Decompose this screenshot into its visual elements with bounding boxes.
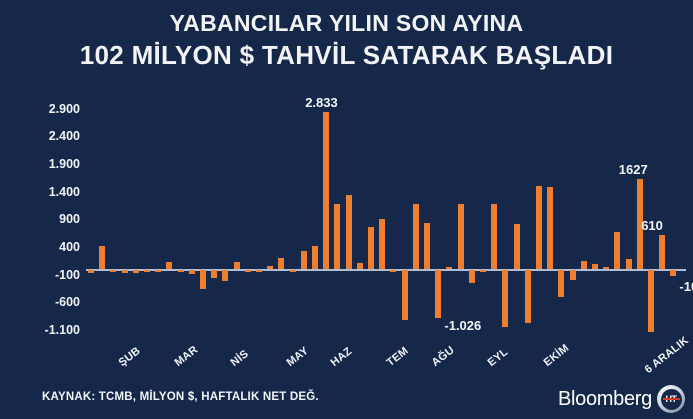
data-label: 2.833 [305,95,338,110]
bar [413,204,419,269]
y-axis-label: 400 [6,241,80,253]
bar [256,270,262,272]
x-axis-label: TEM [385,345,411,369]
bar [491,204,497,269]
logo-inner-disc: HT [661,389,682,410]
y-axis-label: 2.400 [6,130,80,142]
bar [290,270,296,272]
bar [189,270,195,274]
x-axis-label: ŞUB [116,345,142,369]
data-label: 610 [641,218,663,233]
y-axis-label: -1.100 [6,324,80,336]
chart-footer: KAYNAK: TCMB, MİLYON $, HAFTALIK NET DEĞ… [0,379,693,419]
y-axis-label: 2.900 [6,103,80,115]
chart-page: YABANCILAR YILIN SON AYINA 102 MİLYON $ … [0,0,693,419]
bar [458,204,464,269]
bar [402,270,408,320]
bar [110,270,116,272]
bar [133,270,139,273]
chart-title-line-2: 102 MİLYON $ TAHVİL SATARAK BAŞLADI [0,38,693,72]
bar [301,251,307,269]
bloomberg-ht-brand: Bloomberg HT [558,385,685,413]
data-label: -102 [679,279,693,294]
x-axis-label: 6 ARALIK [643,335,691,376]
bar [480,270,486,272]
bar [200,270,206,289]
bar [323,112,329,269]
chart-title: YABANCILAR YILIN SON AYINA 102 MİLYON $ … [0,8,693,72]
bar [334,204,340,269]
bar [267,266,273,269]
y-axis-label: -600 [6,296,80,308]
y-axis-label: 1.400 [6,186,80,198]
bar [379,219,385,269]
bar [446,267,452,269]
bar [245,270,251,272]
bar [603,267,609,269]
x-axis-label: EKİM [542,342,572,369]
bar [592,264,598,269]
x-axis-label: NİS [228,348,250,369]
bar [502,270,508,327]
y-axis-label: 900 [6,213,80,225]
bar [234,262,240,269]
bar [614,232,620,269]
bar [357,263,363,269]
data-label: -1.026 [444,318,481,333]
bar [368,227,374,269]
bar [99,246,105,269]
bar [144,270,150,272]
bar [178,270,184,272]
bloomberg-ht-logo-icon: HT [657,385,685,413]
x-axis-label: AĞU [430,344,457,369]
bar [648,270,654,332]
bar [211,270,217,278]
bar [122,270,128,273]
bar [424,223,430,269]
y-axis-label: -100 [6,269,80,281]
bar [514,224,520,269]
bar [659,235,665,269]
bar [88,270,94,273]
y-axis: 2.9002.4001.9001.400900400-100-600-1.100 [0,0,80,419]
brand-name: Bloomberg [558,388,652,411]
bar [469,270,475,283]
x-axis-label: MAR [172,344,200,369]
bar [346,195,352,269]
plot-area [86,95,686,330]
bar [390,270,396,272]
zero-baseline [86,269,686,271]
bar [581,261,587,269]
x-axis-label: EYL [486,346,511,369]
bar [570,270,576,280]
bar [278,258,284,269]
bar [558,270,564,297]
bar [547,187,553,269]
bar [166,262,172,269]
bar [525,270,531,323]
bar [435,270,441,318]
x-axis-label: MAY [284,345,310,369]
y-axis-label: 1.900 [6,158,80,170]
chart-title-line-1: YABANCILAR YILIN SON AYINA [0,8,693,38]
bar [536,186,542,269]
source-note: KAYNAK: TCMB, MİLYON $, HAFTALIK NET DEĞ… [42,391,319,403]
data-label: 1627 [619,162,648,177]
bar [670,270,676,276]
bar [626,259,632,269]
logo-red-bar [663,398,680,400]
bar [312,246,318,269]
bar [222,270,228,281]
x-axis-label: HAZ [329,345,355,369]
bar [155,270,161,272]
